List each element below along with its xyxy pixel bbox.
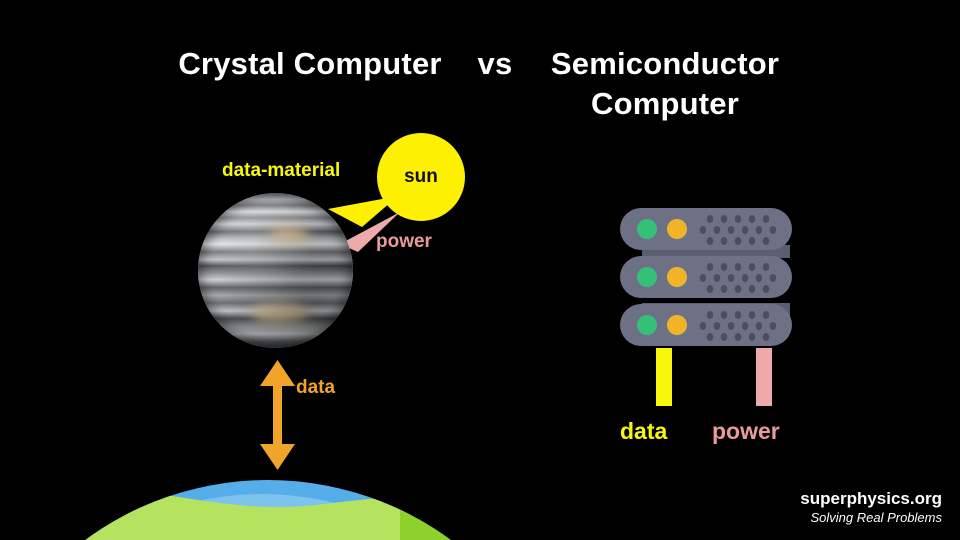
server-rack-stack [620,198,820,418]
slide-canvas: Crystal ComputervsSemiconductor Computer… [0,0,960,540]
crystal-power-label: power [376,231,432,253]
power-cable [756,348,772,406]
planet-edge-shadow [198,193,353,348]
server-rack-unit [620,208,792,250]
server-rack-unit [620,256,792,298]
data-material-label: data-material [222,160,340,182]
crystal-planet [198,193,353,348]
led-amber-icon [667,267,687,287]
led-green-icon [637,315,657,335]
led-green-icon [637,267,657,287]
sun-icon: sun [377,133,465,221]
data-cable [656,348,672,406]
brand-tagline: Solving Real Problems [800,509,942,526]
server-rack-unit [620,304,792,346]
branding: superphysics.org Solving Real Problems [800,489,942,526]
sun-label: sun [404,166,438,188]
led-amber-icon [667,315,687,335]
semiconductor-power-label: power [712,418,780,445]
led-amber-icon [667,219,687,239]
earth-icon [0,440,560,540]
semiconductor-data-label: data [620,418,667,445]
brand-name: superphysics.org [800,489,942,509]
led-green-icon [637,219,657,239]
crystal-data-label: data [296,377,335,399]
title-semiconductor-computer: Semiconductor Computer [530,44,800,124]
